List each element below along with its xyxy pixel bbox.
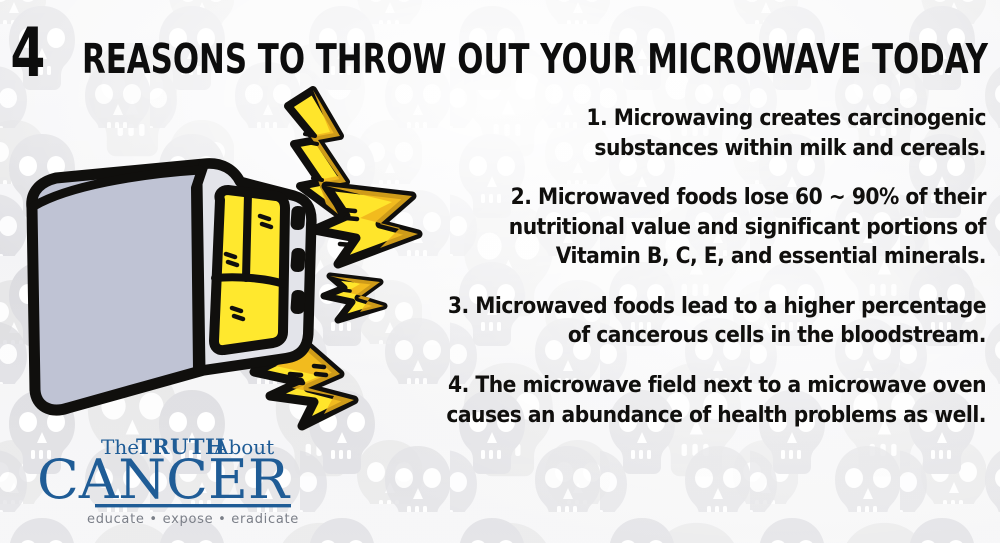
- headline-number: 4: [10, 18, 45, 80]
- headline-text: REASONS TO THROW OUT YOUR MICROWAVE TODA…: [82, 35, 989, 80]
- microwave-button: [290, 248, 306, 273]
- lightning-bolt-icon: [324, 276, 384, 320]
- reason-item-2: 2. Microwaved foods lose 60 ~ 90% of the…: [443, 183, 986, 272]
- microwave-illustration: [8, 78, 428, 438]
- microwave-button: [290, 290, 306, 315]
- infographic-poster: 4 REASONS TO THROW OUT YOUR MICROWAVE TO…: [0, 0, 1000, 543]
- reasons-list: 1. Microwaving creates carcinogenic subs…: [386, 104, 986, 430]
- microwave-button: [290, 206, 306, 231]
- logo-divider-rule: [95, 504, 291, 507]
- reason-item-1: 1. Microwaving creates carcinogenic subs…: [443, 104, 986, 163]
- reason-item-4: 4. The microwave field next to a microwa…: [443, 371, 986, 430]
- reason-item-3: 3. Microwaved foods lead to a higher per…: [443, 292, 986, 351]
- page-title: 4 REASONS TO THROW OUT YOUR MICROWAVE TO…: [0, 18, 1000, 80]
- logo-wordmark: CANCER: [37, 448, 290, 511]
- logo-tagline: educate • expose • eradicate: [87, 512, 299, 527]
- logo-truth-about-cancer[interactable]: The TRUTH About CANCER educate • expose …: [33, 428, 301, 528]
